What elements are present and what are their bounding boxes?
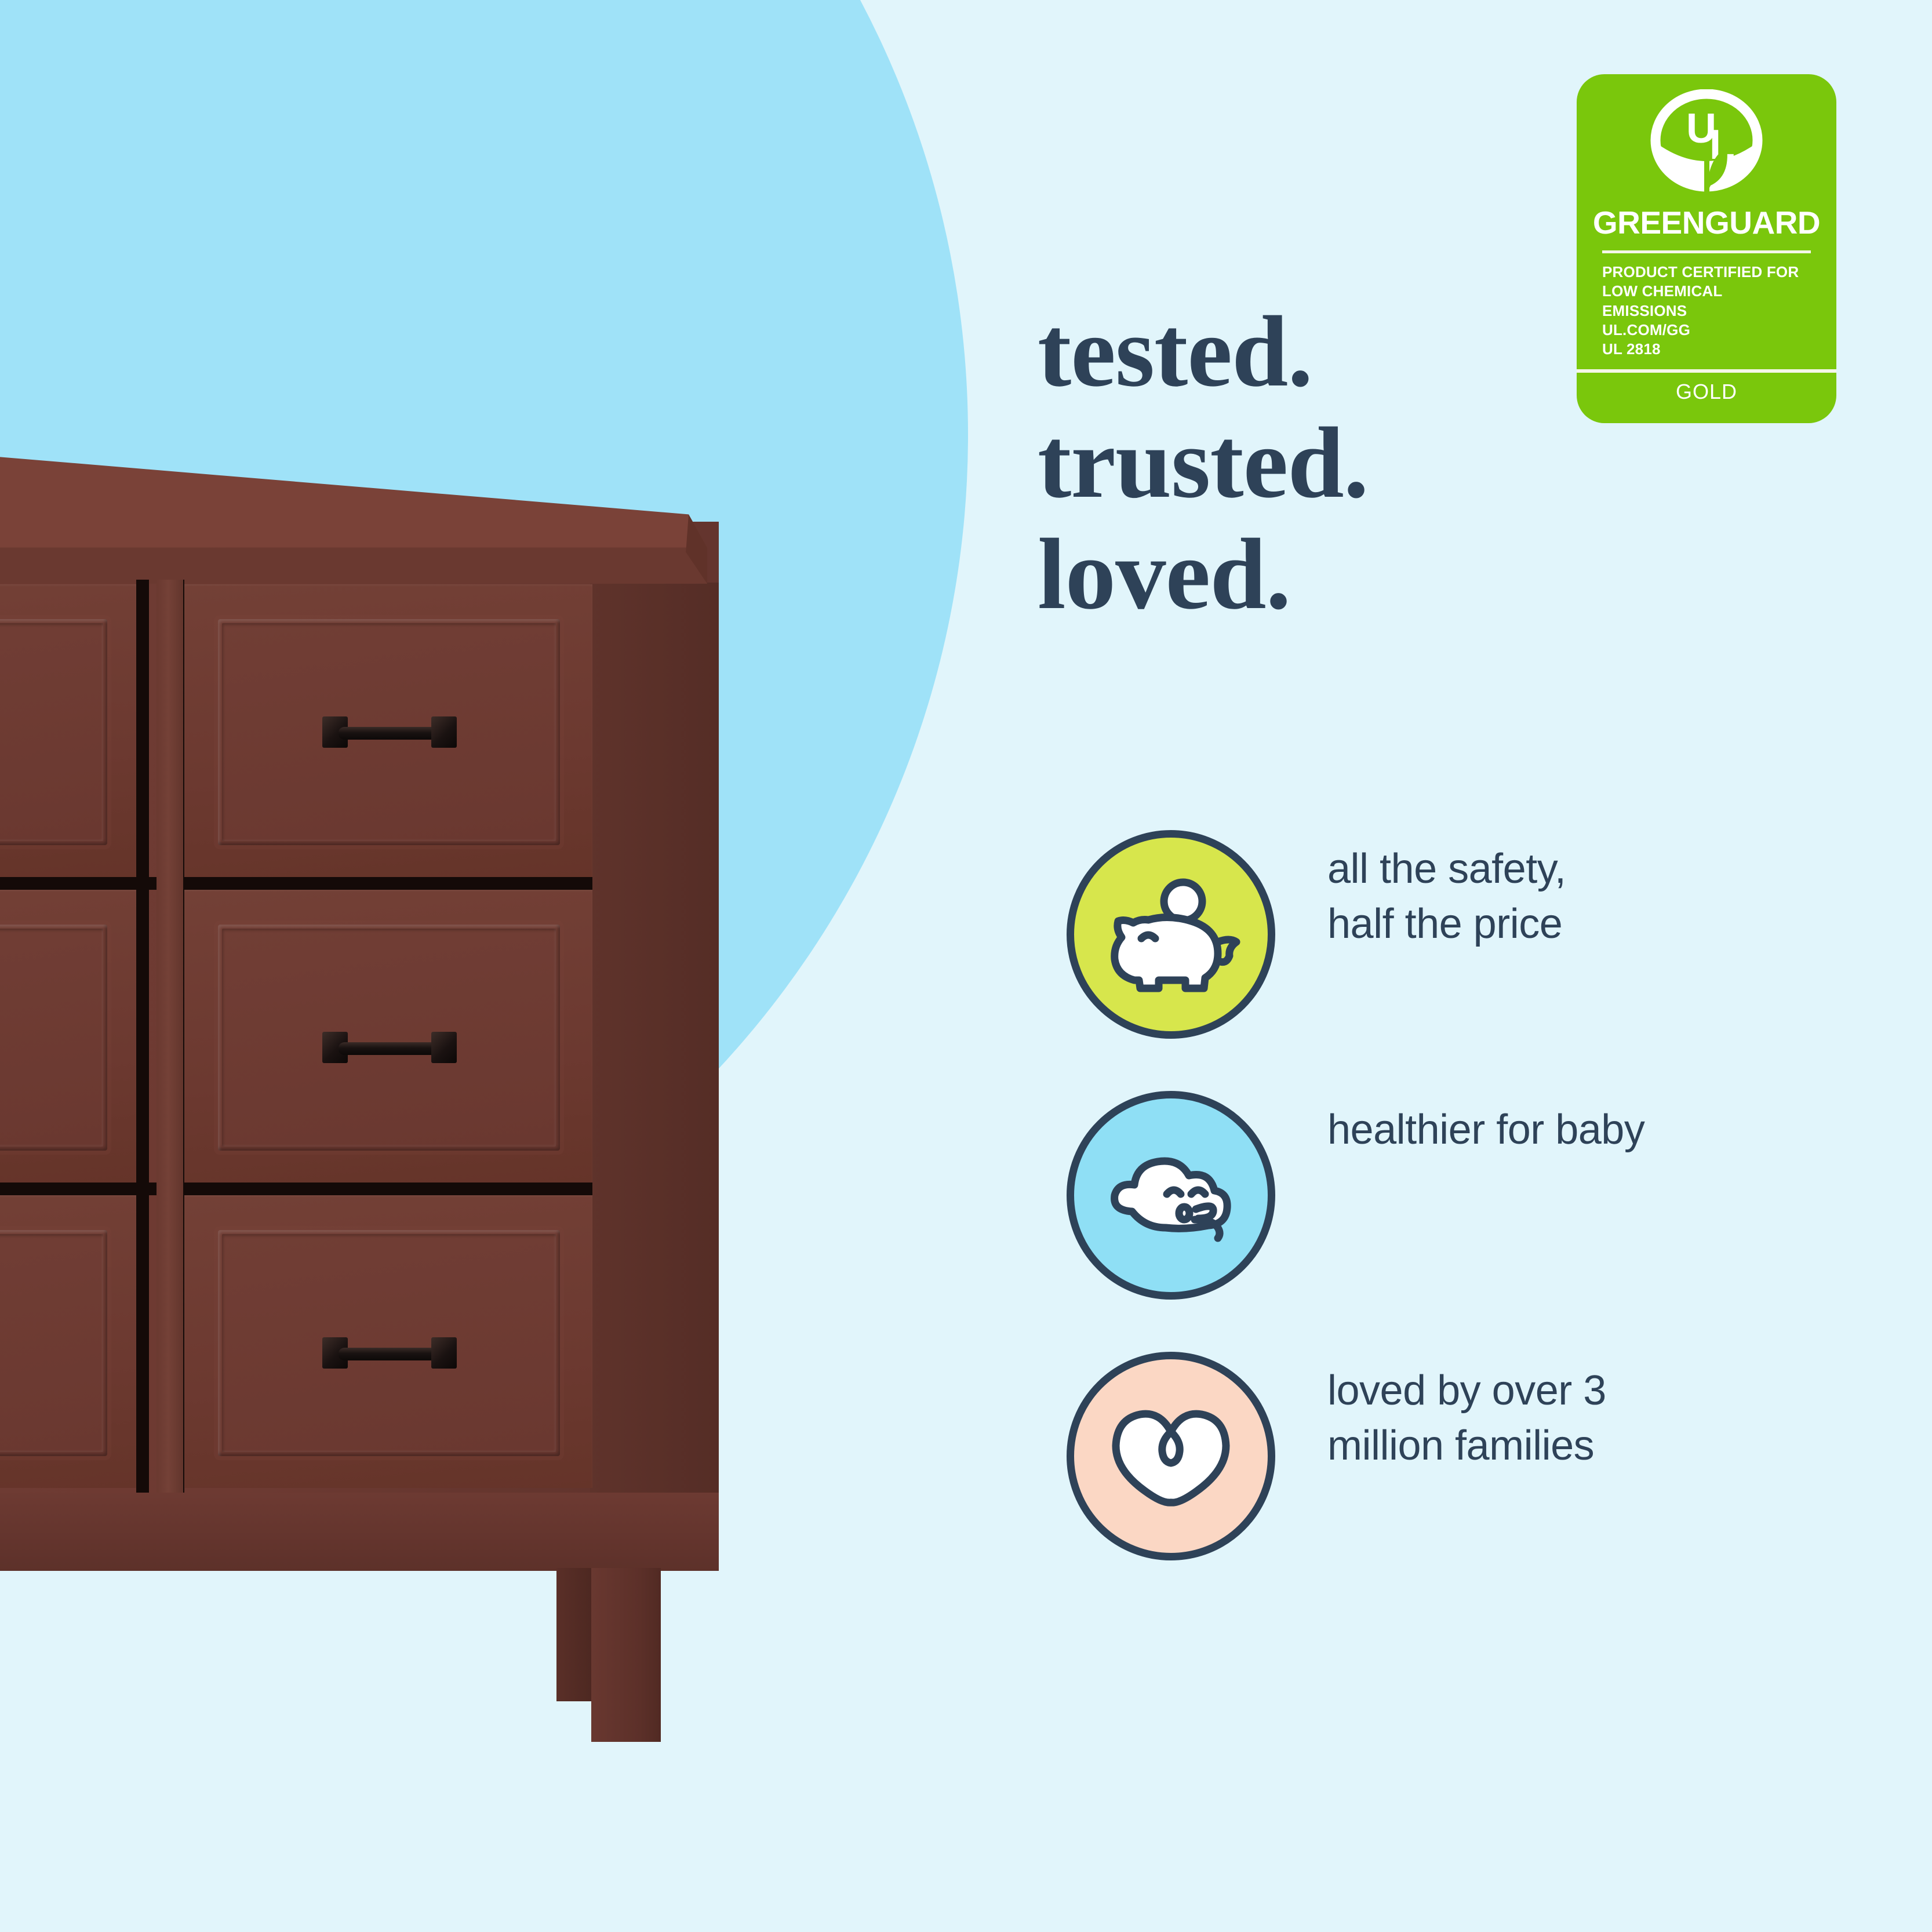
handle-post-right bbox=[431, 1337, 457, 1369]
handle-post-right bbox=[431, 716, 457, 748]
handle-post-right bbox=[431, 1032, 457, 1063]
cert-line-1: PRODUCT CERTIFIED FOR bbox=[1602, 263, 1811, 282]
drawer-right-top[interactable] bbox=[184, 584, 592, 877]
product-dresser-image bbox=[0, 406, 910, 1623]
greenguard-wordmark: GREENGUARD bbox=[1593, 204, 1820, 241]
feature-text-line-1: loved by over 3 bbox=[1327, 1363, 1861, 1418]
drawer-right-middle[interactable] bbox=[184, 890, 592, 1183]
dresser-leg-inner bbox=[556, 1568, 592, 1701]
dresser-drawer-area bbox=[0, 580, 592, 1493]
drawer-left-bottom[interactable] bbox=[0, 1195, 136, 1488]
drawer-panel bbox=[0, 925, 107, 1151]
cert-line-2: LOW CHEMICAL EMISSIONS bbox=[1602, 282, 1811, 321]
feature-text-air-quality: healthier for baby bbox=[1327, 1103, 1861, 1158]
drawer-panel bbox=[0, 1230, 107, 1456]
badge-divider bbox=[1602, 250, 1811, 253]
badge-certification-text: PRODUCT CERTIFIED FOR LOW CHEMICAL EMISS… bbox=[1602, 263, 1811, 359]
headline: tested. trusted. loved. bbox=[1038, 296, 1617, 630]
feature-text-line-2: million families bbox=[1327, 1418, 1861, 1473]
drawer-handle[interactable] bbox=[322, 1337, 457, 1369]
badge-level: GOLD bbox=[1676, 380, 1737, 404]
handle-bar bbox=[339, 1348, 441, 1360]
headline-line-2: trusted. bbox=[1038, 407, 1617, 518]
drawer-seam bbox=[136, 580, 149, 1493]
handle-bar bbox=[339, 1042, 441, 1055]
heart-icon bbox=[1067, 1352, 1275, 1560]
cert-line-3: UL.COM/GG bbox=[1602, 321, 1811, 340]
dresser-leg-front-right bbox=[591, 1568, 661, 1742]
feature-text-families: loved by over 3 million families bbox=[1327, 1363, 1861, 1473]
feature-text-line-2: half the price bbox=[1327, 897, 1861, 952]
headline-line-1: tested. bbox=[1038, 296, 1617, 407]
feature-item-air-quality: healthier for baby bbox=[1061, 1072, 1872, 1333]
feature-text-line-1: healthier for baby bbox=[1327, 1103, 1861, 1158]
feature-item-savings: all the safety, half the price bbox=[1061, 812, 1872, 1072]
marketing-content: U L GREENGUARD PRODUCT CERTIFIED FOR LOW… bbox=[1026, 0, 1932, 1932]
feature-text-savings: all the safety, half the price bbox=[1327, 842, 1861, 952]
drawer-seam bbox=[0, 877, 592, 890]
drawer-handle[interactable] bbox=[322, 1032, 457, 1063]
feature-item-families: loved by over 3 million families bbox=[1061, 1333, 1872, 1594]
drawer-right-bottom[interactable] bbox=[184, 1195, 592, 1488]
cloud-blowing-icon bbox=[1067, 1091, 1275, 1300]
handle-bar bbox=[339, 727, 441, 740]
feature-list: all the safety, half the price bbox=[1061, 812, 1872, 1594]
drawer-handle[interactable] bbox=[322, 716, 457, 748]
ul-leaf-icon: U L bbox=[1646, 89, 1767, 199]
feature-text-line-1: all the safety, bbox=[1327, 842, 1861, 897]
drawer-left-middle[interactable] bbox=[0, 890, 136, 1183]
piggy-bank-icon bbox=[1067, 830, 1275, 1039]
dresser-center-stile bbox=[157, 580, 183, 1493]
drawer-seam bbox=[0, 1183, 592, 1195]
drawer-left-top[interactable] bbox=[0, 584, 136, 877]
dresser-base-rail bbox=[0, 1493, 719, 1571]
cert-line-4: UL 2818 bbox=[1602, 340, 1811, 359]
headline-line-3: loved. bbox=[1038, 518, 1617, 630]
drawer-panel bbox=[0, 619, 107, 845]
dresser-side-panel bbox=[590, 583, 719, 1571]
